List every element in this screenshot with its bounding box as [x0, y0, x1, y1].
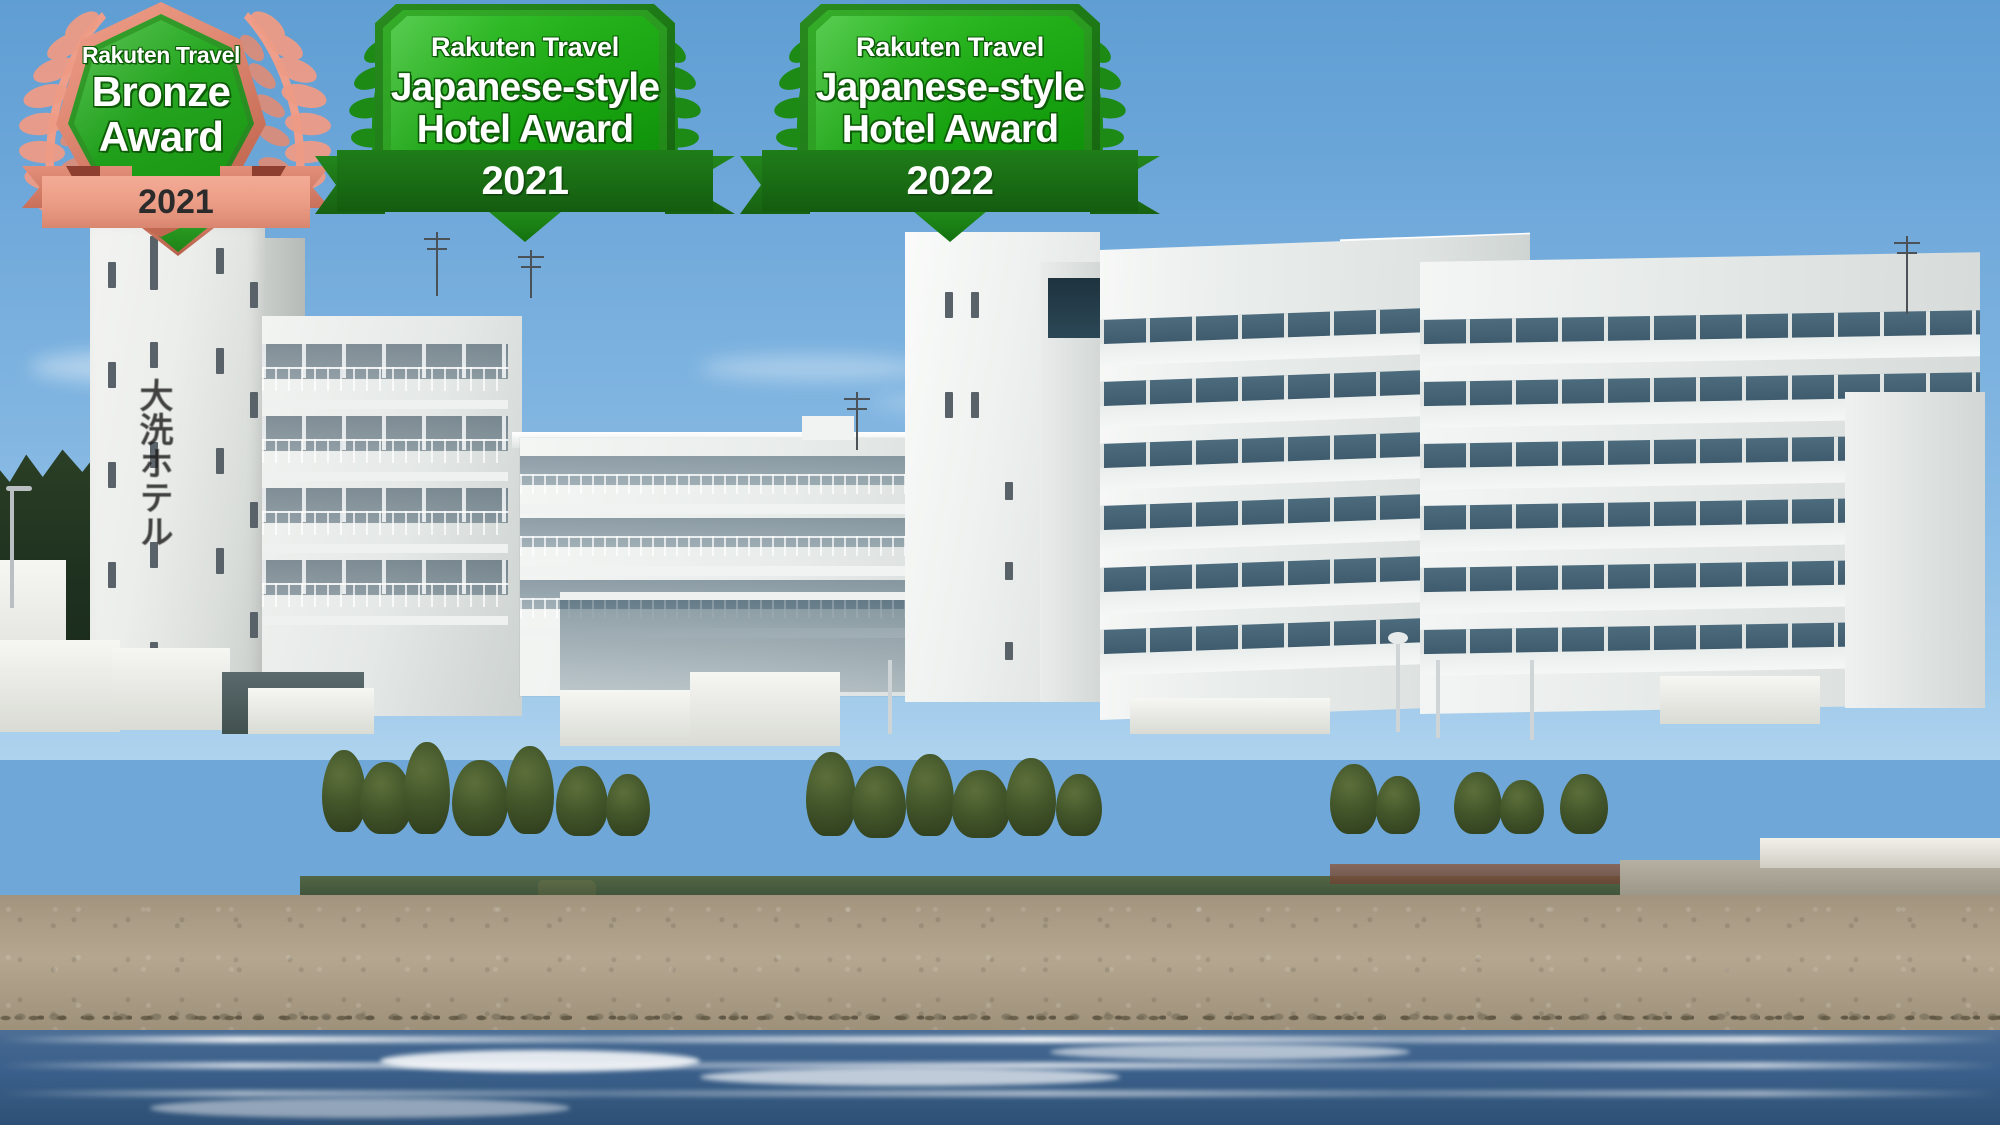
bronze-brand-label: Rakuten Travel [74, 42, 248, 69]
bronze-award-line2: Award [74, 116, 248, 159]
surf-foam [700, 1068, 1120, 1086]
bronze-badge-text: Rakuten Travel Bronze Award [74, 42, 248, 159]
low-building [1130, 698, 1330, 734]
low-building [1660, 676, 1820, 724]
screenshot-root: 大洗ホテル [0, 0, 2000, 1125]
rooftop-antenna [530, 250, 532, 298]
badge-bronze-award: Rakuten Travel Bronze Award 2021 [6, 0, 346, 252]
plaque-2022-text: Rakuten Travel Japanese-style Hotel Awar… [800, 32, 1100, 151]
bronze-award-line1: Bronze [74, 71, 248, 114]
low-building [0, 640, 120, 732]
street-lamp-head [6, 486, 32, 491]
bronze-award-year: 2021 [138, 183, 214, 222]
street-lamp [1530, 660, 1534, 740]
surf-line [0, 1090, 2000, 1097]
low-building [690, 672, 840, 746]
low-building [560, 690, 700, 746]
street-lamp [1436, 660, 1440, 738]
rooftop-antenna [1906, 236, 1908, 314]
rooftop-antenna [856, 392, 858, 450]
street-lamp-head [1388, 632, 1408, 644]
surf-line [0, 1036, 2000, 1043]
surf-foam [380, 1050, 700, 1072]
plaque-2021-brand-label: Rakuten Travel [375, 32, 675, 63]
left-tower-building [90, 222, 265, 712]
plaque-2021-award-line2: Hotel Award [375, 109, 675, 151]
low-building [112, 648, 230, 730]
bronze-ribbon-band: 2021 [42, 176, 310, 228]
rooftop-box [802, 416, 854, 440]
surf-foam [1050, 1044, 1410, 1060]
plaque-2022-award-line2: Hotel Award [800, 109, 1100, 151]
plaque-2021-year: 2021 [482, 159, 569, 204]
plaque-2021-award-line1: Japanese-style [375, 67, 675, 109]
plaque-2022-brand-label: Rakuten Travel [800, 32, 1100, 63]
badge-japanese-style-hotel-award-2022: Rakuten Travel Japanese-style Hotel Awar… [740, 0, 1160, 246]
plaque-2022-award-line1: Japanese-style [800, 67, 1100, 109]
surf-foam [150, 1098, 570, 1118]
street-lamp [888, 660, 892, 734]
right-annex-building [1845, 392, 1985, 708]
plaque-2022-year: 2022 [907, 159, 994, 204]
plaque-2022-ribbon: 2022 [762, 150, 1138, 212]
plaque-2021-text: Rakuten Travel Japanese-style Hotel Awar… [375, 32, 675, 151]
street-lamp [1396, 636, 1400, 732]
street-lamp [10, 488, 14, 608]
low-building [248, 688, 374, 734]
sea-wall-top [1760, 838, 2000, 868]
left-wing-balcony-facade [262, 330, 508, 660]
cloud [700, 355, 930, 381]
badge-japanese-style-hotel-award-2021: Rakuten Travel Japanese-style Hotel Awar… [315, 0, 735, 246]
core-window [1048, 278, 1104, 338]
plaque-2021-ribbon: 2021 [337, 150, 713, 212]
beach-fence [1330, 864, 1630, 884]
hotel-vertical-sign: 大洗ホテル [133, 378, 169, 548]
